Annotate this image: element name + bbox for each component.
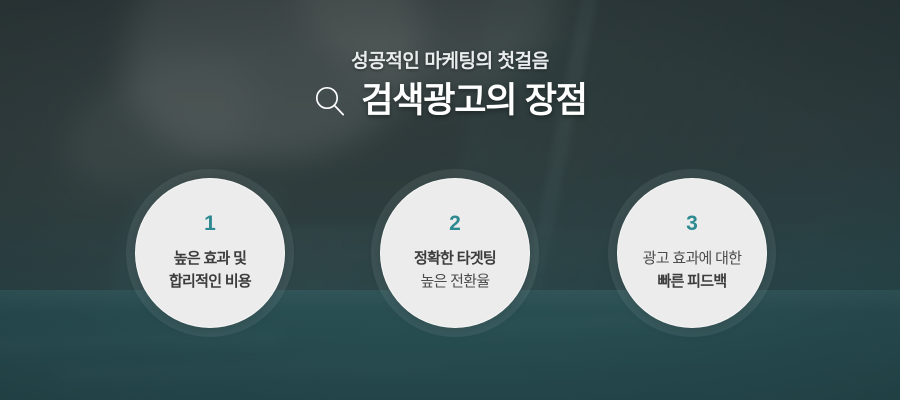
benefit-number: 2 (449, 213, 461, 234)
benefit-number: 1 (204, 213, 216, 234)
search-ad-benefits-banner: 성공적인 마케팅의 첫걸음 검색광고의 장점 1 높은 효과 및 합리적인 비용… (0, 0, 900, 400)
benefit-text-line: 광고 효과에 대한 (643, 247, 742, 270)
benefit-circle-group: 1 높은 효과 및 합리적인 비용 2 정확한 타겟팅 높은 전환율 3 광고 … (0, 178, 900, 330)
benefit-circle-3[interactable]: 3 광고 효과에 대한 빠른 피드백 (617, 178, 767, 328)
banner-header: 성공적인 마케팅의 첫걸음 검색광고의 장점 (0, 46, 900, 121)
benefit-text-line: 높은 효과 및 (174, 247, 246, 270)
benefit-text-line: 합리적인 비용 (169, 270, 251, 293)
benefit-text-line: 높은 전환율 (421, 270, 490, 293)
banner-title-row: 검색광고의 장점 (0, 82, 900, 121)
benefit-text-line: 빠른 피드백 (658, 270, 727, 293)
benefit-circle-1[interactable]: 1 높은 효과 및 합리적인 비용 (135, 178, 285, 328)
page-title: 검색광고의 장점 (361, 82, 587, 121)
benefit-text-line: 정확한 타겟팅 (414, 247, 496, 270)
banner-subtitle: 성공적인 마케팅의 첫걸음 (0, 46, 900, 73)
benefit-circle-2[interactable]: 2 정확한 타겟팅 높은 전환율 (380, 178, 530, 328)
benefit-number: 3 (686, 213, 698, 234)
search-icon (313, 84, 347, 118)
